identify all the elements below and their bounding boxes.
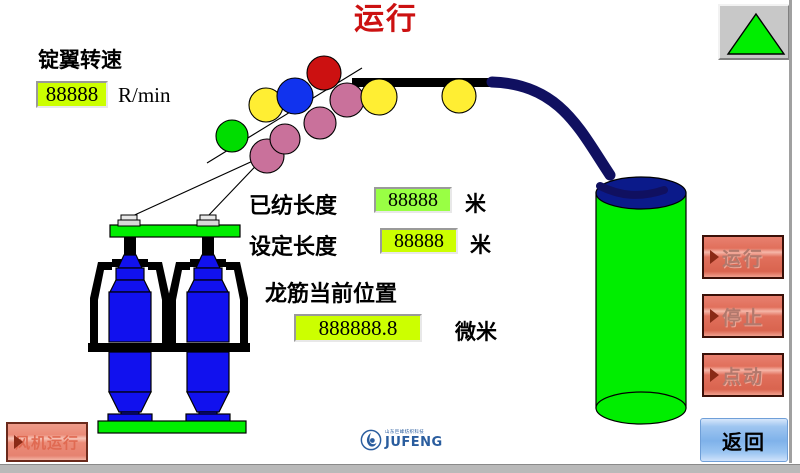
sliver-can xyxy=(596,177,686,424)
jufeng-swirl-icon xyxy=(360,429,382,451)
play-arrow-icon xyxy=(710,309,719,323)
run-button[interactable]: 运行 xyxy=(702,235,784,279)
sliver-curve xyxy=(492,82,610,175)
rib-position-label: 龙筋当前位置 xyxy=(265,276,397,308)
status-lamp-panel[interactable] xyxy=(718,4,790,60)
bobbin-circle xyxy=(304,107,336,139)
running-triangle-icon xyxy=(726,12,786,56)
flyer-speed-value[interactable]: 88888 xyxy=(36,81,108,108)
run-button-label: 运行 xyxy=(722,244,764,271)
jog-button-label: 点动 xyxy=(722,362,764,389)
bobbin-circles xyxy=(216,56,476,173)
play-arrow-icon xyxy=(710,368,719,382)
fan-run-button[interactable]: 风机运行 xyxy=(6,422,88,462)
spun-length-label: 已纺长度 xyxy=(249,188,337,220)
bobbin-circle xyxy=(270,124,300,154)
arc-guide-line xyxy=(207,68,362,163)
bobbin-circle xyxy=(330,83,364,117)
return-button-label: 返回 xyxy=(722,426,766,455)
return-button[interactable]: 返回 xyxy=(700,418,788,462)
stop-button-label: 停止 xyxy=(722,303,764,330)
set-length-label: 设定长度 xyxy=(249,229,337,261)
bobbin-circle xyxy=(249,88,283,122)
bobbin-circle xyxy=(216,120,248,152)
bobbin-circle xyxy=(442,79,476,113)
logo-wordmark: JUFENG xyxy=(385,436,443,450)
spindle-unit-left xyxy=(88,237,172,423)
spun-length-unit: 米 xyxy=(465,188,486,218)
fan-run-button-label: 风机运行 xyxy=(15,432,79,453)
stop-button[interactable]: 停止 xyxy=(702,294,784,338)
page-title: 运行 xyxy=(326,2,446,38)
flyer-speed-unit: R/min xyxy=(118,83,171,108)
bobbin-circle xyxy=(250,139,284,173)
spun-length-value[interactable]: 88888 xyxy=(374,187,452,213)
jog-button[interactable]: 点动 xyxy=(702,353,784,397)
flyer-speed-label: 锭翼转速 xyxy=(38,44,122,74)
bobbin-circle xyxy=(277,78,313,114)
hmi-screen: 运行 xyxy=(0,0,800,473)
company-logo: 山东巨峰纺织科技 JUFENG xyxy=(360,424,470,456)
right-panel-divider xyxy=(789,0,792,463)
top-rail-bar xyxy=(352,78,500,87)
spindle-unit-right xyxy=(166,237,250,423)
spindle-assembly xyxy=(88,215,250,433)
set-length-unit: 米 xyxy=(470,229,491,259)
set-length-value[interactable]: 88888 xyxy=(380,228,458,254)
rib-position-value[interactable]: 888888.8 xyxy=(294,314,422,342)
bobbin-cap-right xyxy=(197,215,219,226)
bobbin-circle xyxy=(361,79,397,115)
bobbin-circle xyxy=(307,56,341,90)
rib-position-unit: 微米 xyxy=(455,316,497,346)
play-arrow-icon xyxy=(14,435,23,449)
bobbin-cap-left xyxy=(118,215,140,226)
play-arrow-icon xyxy=(710,250,719,264)
taskbar xyxy=(0,464,800,473)
